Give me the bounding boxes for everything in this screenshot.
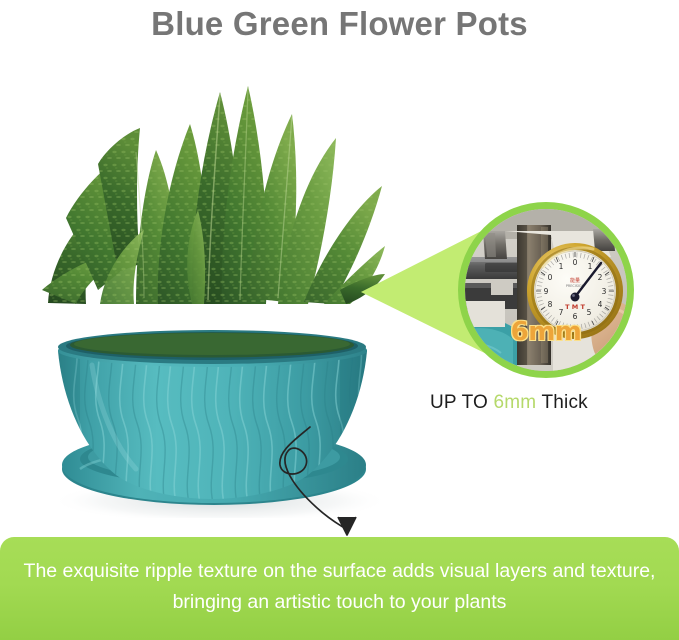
thickness-prefix: UP TO <box>430 392 494 413</box>
snake-plant-image <box>40 58 385 306</box>
banner-text: The exquisite ripple texture on the surf… <box>20 556 660 622</box>
caliper-measurement-photo: 0 1 2 3 4 5 6 7 8 9 0 1 能量 <box>461 205 634 378</box>
page-title: Blue Green Flower Pots <box>0 2 679 46</box>
svg-text:1: 1 <box>588 262 593 271</box>
magnifier-callout: 0 1 2 3 4 5 6 7 8 9 0 1 能量 <box>355 190 660 390</box>
measurement-label: 6mm <box>465 317 627 347</box>
svg-text:4: 4 <box>598 300 603 309</box>
svg-text:8: 8 <box>548 300 553 309</box>
product-infographic: Blue Green Flower Pots <box>0 0 679 640</box>
magnifier-circle: 0 1 2 3 4 5 6 7 8 9 0 1 能量 <box>458 202 634 378</box>
svg-text:0: 0 <box>573 258 578 267</box>
svg-text:3: 3 <box>602 287 607 296</box>
thickness-suffix: Thick <box>536 392 588 413</box>
svg-text:7: 7 <box>559 308 564 317</box>
thickness-value: 6mm <box>494 392 537 413</box>
leaf-cluster <box>42 86 385 304</box>
svg-text:能量: 能量 <box>570 277 580 284</box>
svg-text:1: 1 <box>559 262 564 271</box>
thickness-caption: UP TO 6mm Thick <box>430 392 670 414</box>
curved-arrow-icon <box>268 425 418 540</box>
svg-text:0: 0 <box>548 273 553 282</box>
svg-text:9: 9 <box>544 287 549 296</box>
feature-banner: The exquisite ripple texture on the surf… <box>0 537 679 640</box>
svg-text:2: 2 <box>598 273 603 282</box>
svg-text:T M T: T M T <box>565 303 585 311</box>
svg-text:5: 5 <box>587 308 592 317</box>
